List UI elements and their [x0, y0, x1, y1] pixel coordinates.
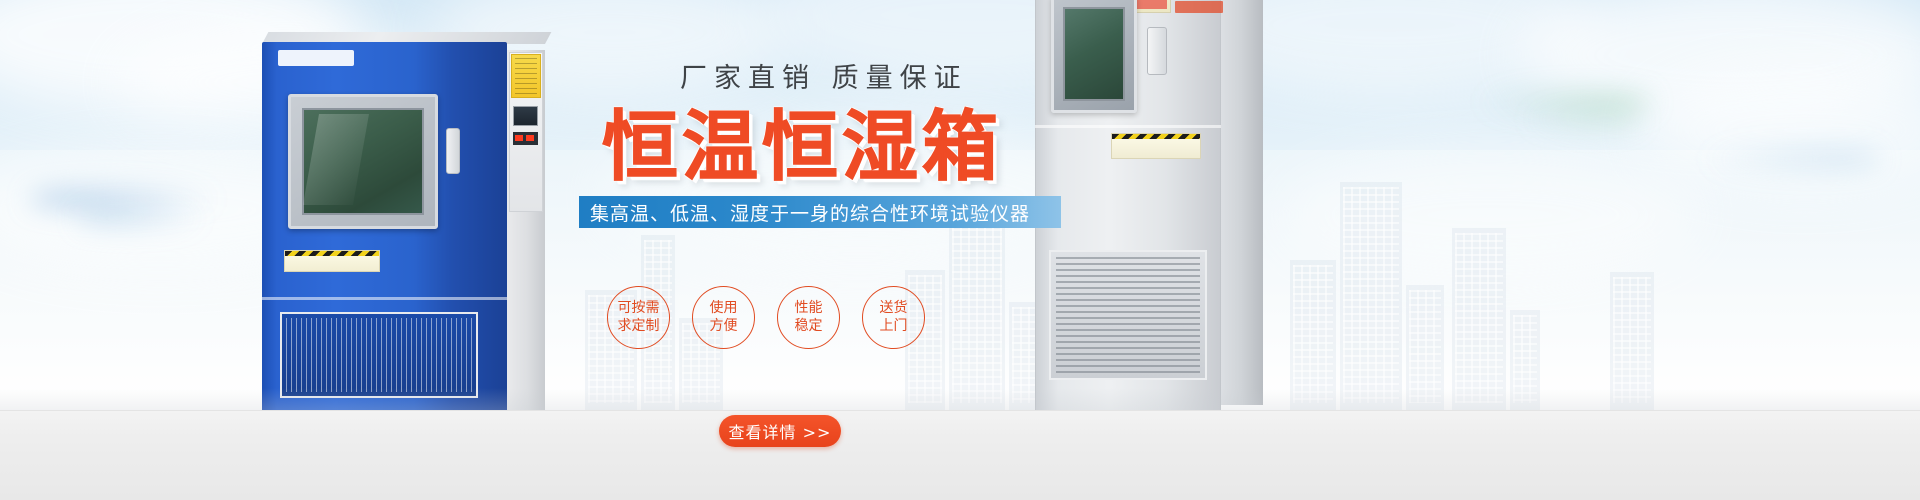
- feature-badge-stable-performance[interactable]: 性能 稳定: [777, 286, 840, 349]
- banner-subtitle-bar: 集高温、低温、湿度于一身的综合性环境试验仪器: [579, 196, 1061, 228]
- badge-line-2: 上门: [880, 318, 908, 336]
- badge-line-1: 使用: [710, 300, 738, 318]
- banner-title: 恒温恒湿箱: [602, 85, 1002, 195]
- badge-line-1: 可按需: [618, 300, 660, 318]
- product-image-left: [262, 42, 507, 414]
- badge-line-1: 送货: [880, 300, 908, 318]
- banner-subtitle: 集高温、低温、湿度于一身的综合性环境试验仪器: [579, 199, 1030, 226]
- badge-line-1: 性能: [795, 300, 823, 318]
- banner-copy: 厂家直销 质量保证 恒温恒湿箱 集高温、低温、湿度于一身的综合性环境试验仪器 可…: [575, 0, 1095, 500]
- feature-badge-list: 可按需 求定制 使用 方便 性能 稳定 送货 上门: [607, 286, 925, 349]
- promo-banner: 厂家直销 质量保证 恒温恒湿箱 集高温、低温、湿度于一身的综合性环境试验仪器 可…: [0, 0, 1920, 500]
- feature-badge-door-delivery[interactable]: 送货 上门: [862, 286, 925, 349]
- feature-badge-custom[interactable]: 可按需 求定制: [607, 286, 670, 349]
- badge-line-2: 求定制: [618, 318, 660, 336]
- badge-line-2: 方便: [710, 318, 738, 336]
- badge-line-2: 稳定: [795, 318, 823, 336]
- view-details-button[interactable]: 查看详情 >>: [719, 415, 841, 447]
- feature-badge-easy-to-use[interactable]: 使用 方便: [692, 286, 755, 349]
